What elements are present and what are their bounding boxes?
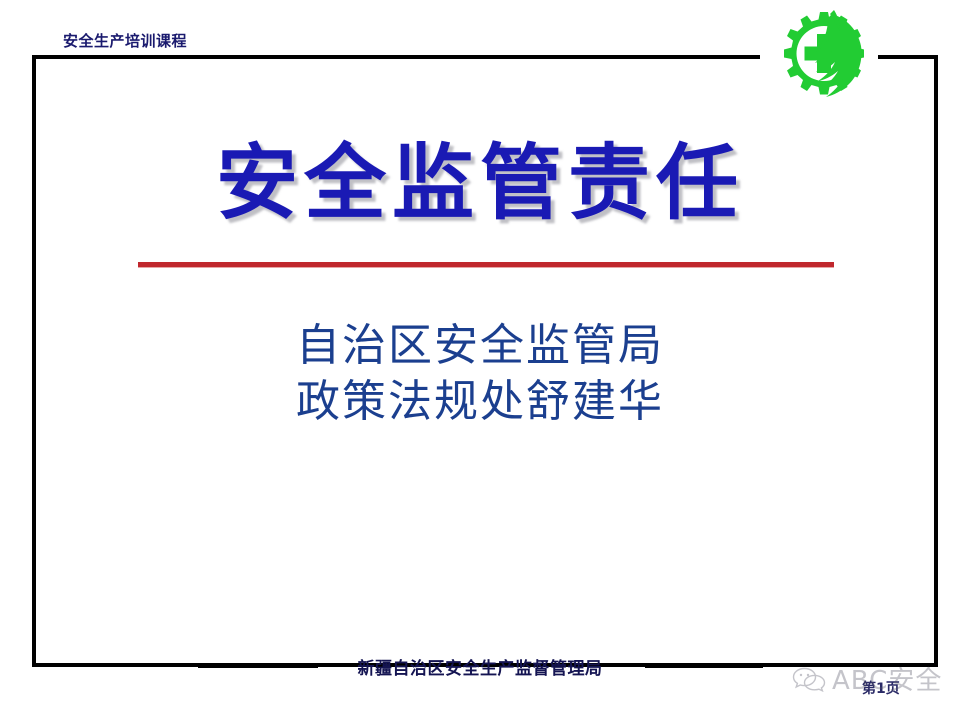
- source-watermark: ABC安全: [792, 660, 942, 697]
- subtitle-line-presenter: 政策法规处舒建华: [0, 374, 960, 430]
- frame-border-top-right: [878, 55, 938, 59]
- slide-subtitle: 自治区安全监管局 政策法规处舒建华: [0, 318, 960, 431]
- footer-organization-label: 新疆自治区安全生产监督管理局: [358, 654, 603, 679]
- wechat-bubble-icon: [792, 666, 826, 692]
- slide-main-title: 安全监管责任: [0, 138, 960, 230]
- course-header-label: 安全生产培训课程: [63, 30, 187, 51]
- footer-rule-left: [198, 664, 318, 668]
- work-safety-emblem-icon: [776, 8, 874, 104]
- watermark-label: ABC安全: [832, 660, 942, 697]
- title-divider-rule: [138, 262, 834, 268]
- footer-rule-right: [645, 664, 763, 668]
- subtitle-line-organization: 自治区安全监管局: [0, 318, 960, 374]
- presentation-slide: 安全生产培训课程 安全监管责任 自治区安全监管局 政策法规处舒建华 新疆自: [0, 0, 960, 720]
- frame-border-top-left: [32, 55, 760, 59]
